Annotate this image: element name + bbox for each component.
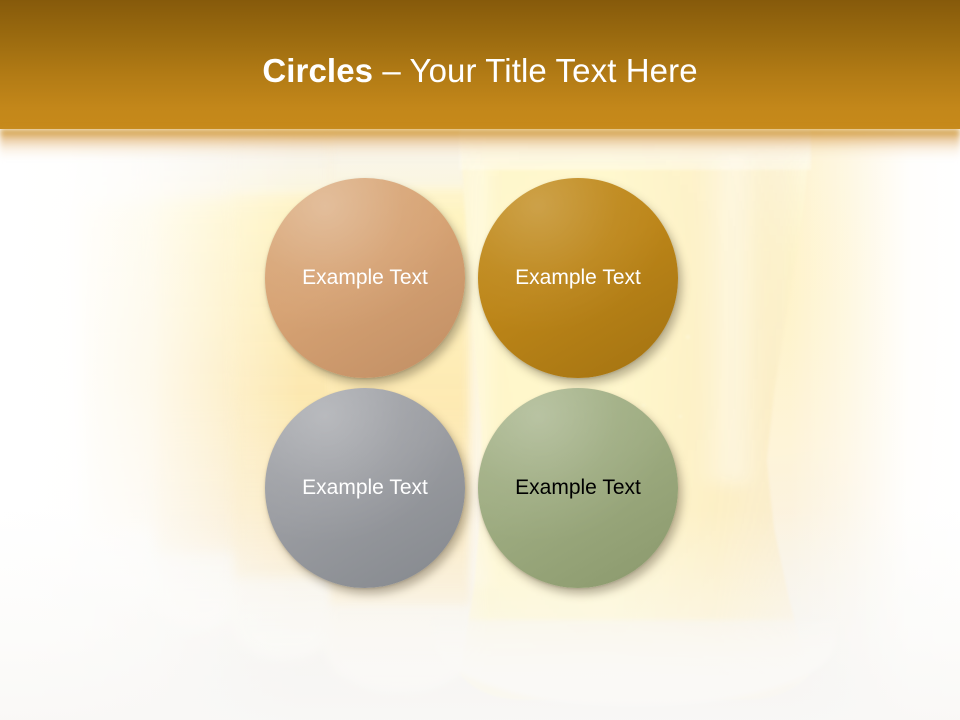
circle-label-top-left: Example Text [284, 263, 446, 293]
circle-shape-bottom-left[interactable]: Example Text [265, 388, 465, 588]
circle-label-top-right: Example Text [497, 263, 659, 293]
circle-shape-bottom-right[interactable]: Example Text [478, 388, 678, 588]
circle-label-bottom-left: Example Text [284, 473, 446, 503]
circle-label-bottom-right: Example Text [497, 473, 659, 503]
circle-shape-top-right[interactable]: Example Text [478, 178, 678, 378]
circle-shape-top-left[interactable]: Example Text [265, 178, 465, 378]
circles-diagram: Example Text Example Text Example Text E… [0, 0, 960, 720]
presentation-slide: Circles – Your Title Text Here Example T… [0, 0, 960, 720]
